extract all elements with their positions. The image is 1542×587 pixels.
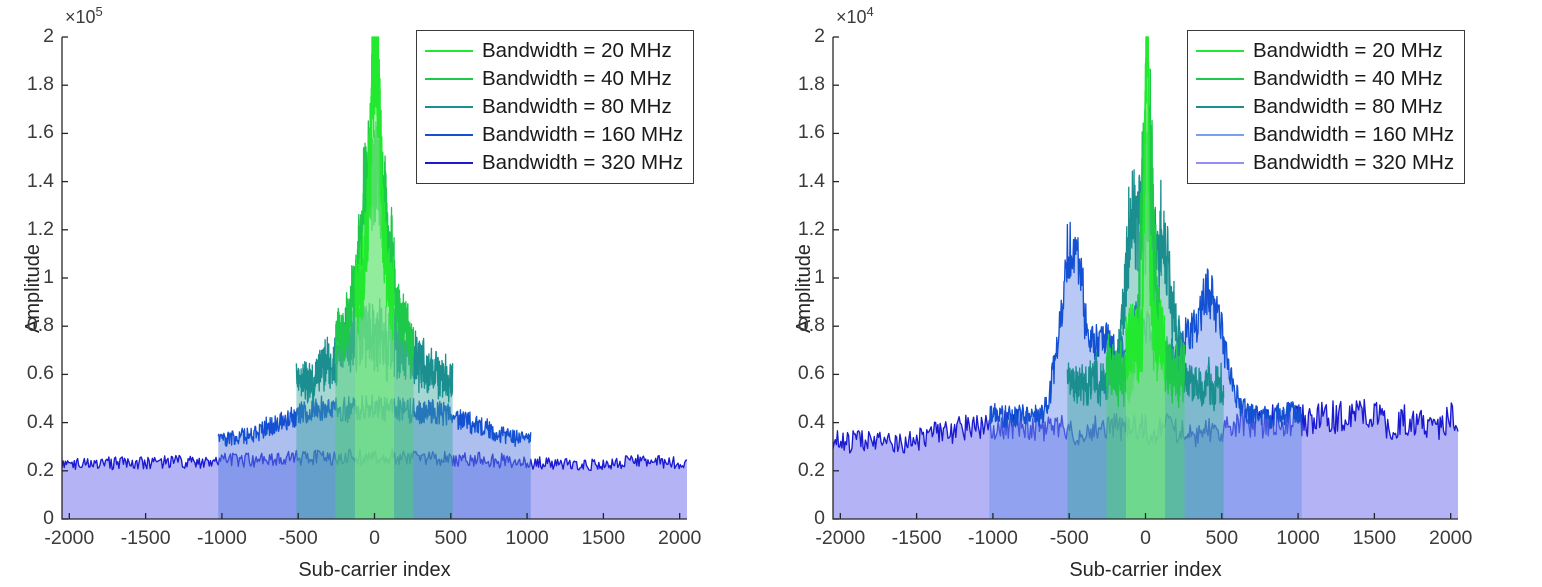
y-exponent-label-left: ×105: [65, 4, 103, 28]
y-tick-label: 1.4: [798, 170, 825, 193]
y-tick-label: 2: [43, 25, 54, 48]
y-tick-label: 1.2: [798, 218, 825, 241]
x-tick-label: 2000: [635, 527, 725, 550]
y-exponent-power: 4: [867, 4, 874, 19]
x-axis-label-left: Sub-carrier index: [285, 559, 465, 582]
legend-right[interactable]: Bandwidth = 20 MHzBandwidth = 40 MHzBand…: [1187, 30, 1465, 184]
legend-item-label: Bandwidth = 160 MHz: [1253, 125, 1454, 146]
legend-color-swatch: [425, 106, 473, 108]
chart-panel-right: ×104 Amplitude Sub-carrier index Bandwid…: [771, 0, 1542, 587]
legend-item-label: Bandwidth = 320 MHz: [1253, 153, 1454, 174]
legend-item-label: Bandwidth = 40 MHz: [1253, 69, 1443, 90]
legend-item[interactable]: Bandwidth = 320 MHz: [425, 149, 683, 177]
legend-item[interactable]: Bandwidth = 160 MHz: [425, 121, 683, 149]
legend-item[interactable]: Bandwidth = 80 MHz: [1196, 93, 1454, 121]
y-exponent-label-right: ×104: [836, 4, 874, 28]
legend-item-label: Bandwidth = 80 MHz: [482, 97, 672, 118]
y-tick-label: 0.2: [27, 459, 54, 482]
y-tick-label: 1.6: [798, 121, 825, 144]
legend-item-label: Bandwidth = 320 MHz: [482, 153, 683, 174]
legend-color-swatch: [425, 162, 473, 164]
y-tick-label: 0.6: [27, 362, 54, 385]
x-tick-label: 2000: [1406, 527, 1496, 550]
legend-color-swatch: [1196, 106, 1244, 108]
y-tick-label: 0.8: [27, 314, 54, 337]
y-tick-label: 0.4: [798, 411, 825, 434]
y-exponent-mantissa: ×10: [65, 7, 96, 27]
y-tick-label: 2: [814, 25, 825, 48]
x-axis-label-right: Sub-carrier index: [1056, 559, 1236, 582]
legend-item-label: Bandwidth = 80 MHz: [1253, 97, 1443, 118]
legend-left[interactable]: Bandwidth = 20 MHzBandwidth = 40 MHzBand…: [416, 30, 694, 184]
y-tick-label: 1.8: [27, 73, 54, 96]
y-exponent-mantissa: ×10: [836, 7, 867, 27]
y-tick-label: 0.4: [27, 411, 54, 434]
legend-color-swatch: [425, 134, 473, 136]
legend-item[interactable]: Bandwidth = 20 MHz: [425, 37, 683, 65]
legend-item[interactable]: Bandwidth = 20 MHz: [1196, 37, 1454, 65]
legend-item[interactable]: Bandwidth = 320 MHz: [1196, 149, 1454, 177]
legend-color-swatch: [425, 78, 473, 80]
legend-color-swatch: [425, 50, 473, 52]
legend-color-swatch: [1196, 78, 1244, 80]
y-tick-label: 1: [814, 266, 825, 289]
y-tick-label: 1.8: [798, 73, 825, 96]
legend-color-swatch: [1196, 50, 1244, 52]
y-tick-label: 1.4: [27, 170, 54, 193]
legend-item-label: Bandwidth = 20 MHz: [1253, 41, 1443, 62]
y-tick-label: 1.2: [27, 218, 54, 241]
y-tick-label: 1: [43, 266, 54, 289]
legend-item-label: Bandwidth = 160 MHz: [482, 125, 683, 146]
figure-canvas: ×105 Amplitude Sub-carrier index Bandwid…: [0, 0, 1542, 587]
legend-color-swatch: [1196, 162, 1244, 164]
y-tick-label: 0.8: [798, 314, 825, 337]
legend-color-swatch: [1196, 134, 1244, 136]
y-tick-label: 0.6: [798, 362, 825, 385]
legend-item-label: Bandwidth = 20 MHz: [482, 41, 672, 62]
legend-item[interactable]: Bandwidth = 40 MHz: [425, 65, 683, 93]
y-exponent-power: 5: [96, 4, 103, 19]
legend-item[interactable]: Bandwidth = 80 MHz: [425, 93, 683, 121]
legend-item-label: Bandwidth = 40 MHz: [482, 69, 672, 90]
y-tick-label: 1.6: [27, 121, 54, 144]
legend-item[interactable]: Bandwidth = 160 MHz: [1196, 121, 1454, 149]
chart-panel-left: ×105 Amplitude Sub-carrier index Bandwid…: [0, 0, 771, 587]
legend-item[interactable]: Bandwidth = 40 MHz: [1196, 65, 1454, 93]
y-tick-label: 0.2: [798, 459, 825, 482]
